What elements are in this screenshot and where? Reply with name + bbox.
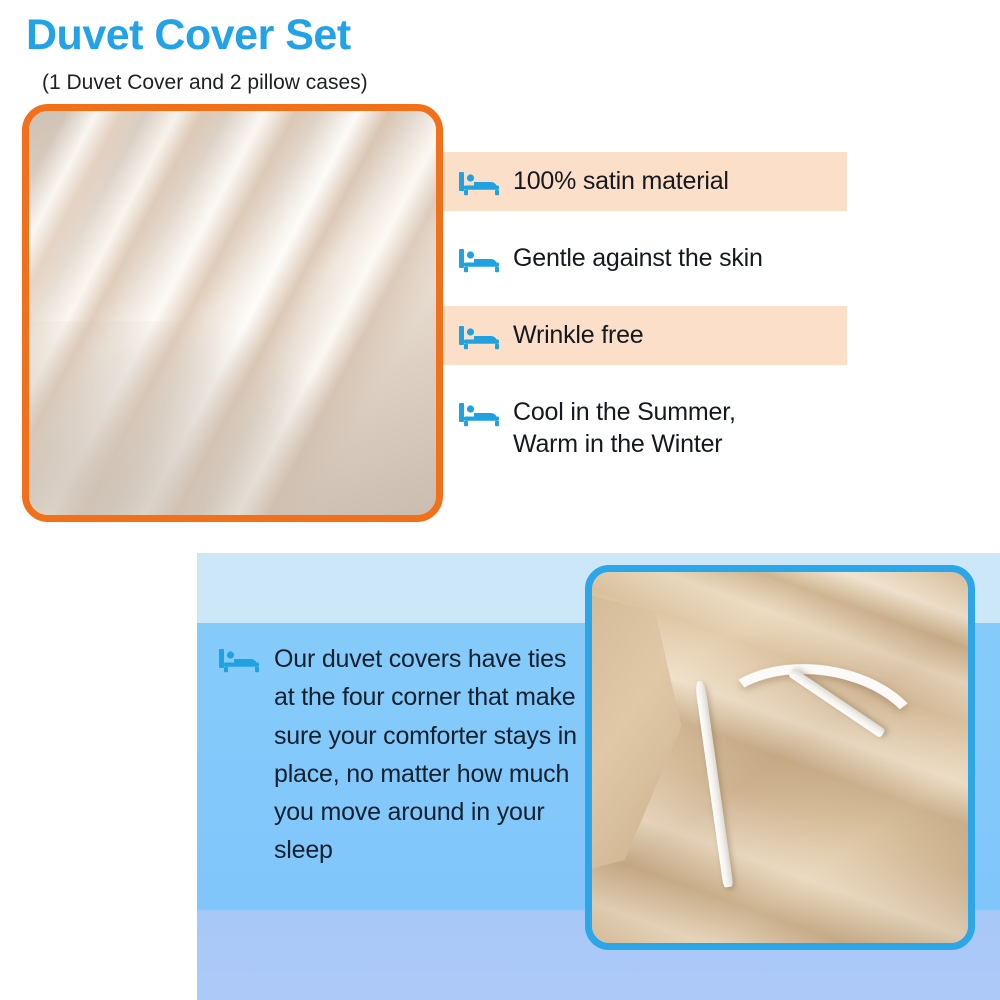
- feature-list: 100% satin material Gentle against the s…: [443, 152, 847, 491]
- bed-with-person-icon: [459, 170, 501, 198]
- feature-row: Gentle against the skin: [443, 229, 847, 288]
- bed-with-person-icon: [459, 401, 501, 429]
- feature-label: Cool in the Summer, Warm in the Winter: [513, 396, 736, 460]
- tie-feature-block: Our duvet covers have ties at the four c…: [219, 640, 579, 870]
- feature-row: 100% satin material: [443, 152, 847, 211]
- bed-with-person-icon: [219, 647, 261, 675]
- feature-label: Gentle against the skin: [513, 242, 763, 274]
- page-title: Duvet Cover Set: [26, 14, 351, 57]
- feature-label: Wrinkle free: [513, 319, 644, 351]
- page-subtitle: (1 Duvet Cover and 2 pillow cases): [42, 72, 368, 93]
- feature-row: Cool in the Summer, Warm in the Winter: [443, 383, 847, 473]
- duvet-tie-photo: [592, 572, 968, 943]
- satin-tie-arc: [696, 650, 937, 826]
- duvet-tie-photo-frame: [585, 565, 975, 950]
- satin-fabric-photo: [29, 111, 436, 515]
- feature-row: Wrinkle free: [443, 306, 847, 365]
- feature-label: 100% satin material: [513, 165, 729, 197]
- bed-with-person-icon: [459, 324, 501, 352]
- satin-fabric-photo-frame: [22, 104, 443, 522]
- bed-with-person-icon: [459, 247, 501, 275]
- tie-feature-text: Our duvet covers have ties at the four c…: [274, 640, 579, 870]
